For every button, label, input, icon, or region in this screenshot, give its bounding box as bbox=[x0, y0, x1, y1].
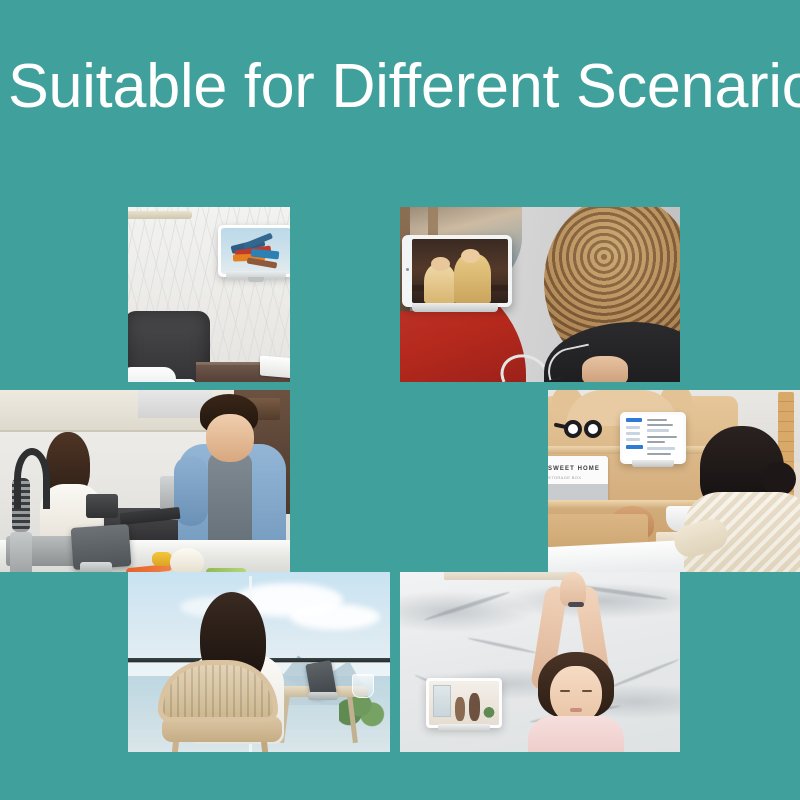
mounted-tablet bbox=[620, 412, 686, 464]
scenario-photo-yoga bbox=[400, 572, 680, 752]
scenario-photo-kitchen bbox=[0, 390, 290, 572]
curtain-rail bbox=[128, 211, 192, 219]
drinking-glass bbox=[352, 674, 374, 698]
vegetables bbox=[126, 548, 244, 572]
rattan-chair bbox=[158, 660, 290, 752]
tablet-stand bbox=[80, 562, 112, 572]
open-book bbox=[260, 357, 290, 377]
tablet-screen bbox=[221, 228, 290, 274]
tablet-wall-mount bbox=[438, 724, 490, 732]
scenario-photo-office bbox=[400, 207, 680, 382]
scenario-photo-balcony bbox=[128, 572, 390, 752]
cooking-pot bbox=[86, 494, 118, 518]
woman-yoga-pose bbox=[516, 574, 636, 752]
tablet-wall-mount bbox=[412, 303, 498, 312]
tablet-mount-arm bbox=[248, 277, 264, 282]
tablet-screen bbox=[412, 239, 508, 303]
tablet-screen bbox=[429, 681, 499, 725]
child-studying bbox=[690, 426, 800, 572]
page-title: Suitable for Different Scenarios bbox=[8, 52, 786, 122]
pillow bbox=[128, 367, 176, 382]
promo-poster: Suitable for Different Scenarios bbox=[0, 0, 800, 800]
mounted-tablet bbox=[402, 235, 512, 307]
toy-glasses bbox=[554, 420, 602, 438]
tablet-wall-mount bbox=[632, 460, 674, 467]
scenario-photo-kids-desk: SWEET HOME STORAGE BOX bbox=[548, 390, 800, 572]
kitchen-faucet bbox=[8, 448, 38, 544]
mounted-tablet bbox=[218, 225, 290, 277]
mounted-tablet bbox=[426, 678, 502, 728]
tablet-screen bbox=[623, 415, 683, 461]
storage-box-sublabel: STORAGE BOX bbox=[548, 475, 581, 480]
tablet-stand bbox=[308, 692, 338, 700]
scenario-photo-bedroom bbox=[128, 207, 290, 382]
storage-box-label: SWEET HOME bbox=[548, 466, 600, 472]
storage-box: SWEET HOME STORAGE BOX bbox=[548, 456, 608, 504]
